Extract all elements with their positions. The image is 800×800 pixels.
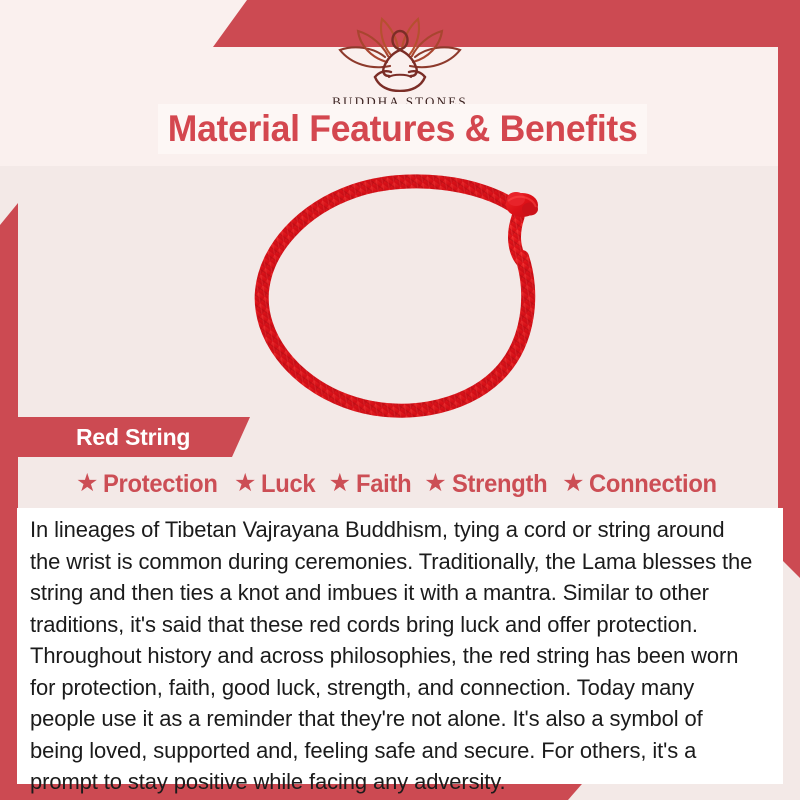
red-string-bracelet-illustration (230, 165, 590, 427)
benefit-item-faith: ★ Faith (326, 470, 418, 499)
lotus-meditation-figure-icon (327, 14, 473, 92)
description-panel: In lineages of Tibetan Vajrayana Buddhis… (17, 508, 783, 784)
benefit-label: Protection (103, 470, 218, 499)
star-icon: ★ (234, 471, 256, 496)
infographic-root: BUDDHA STONES Material Features & Benefi… (0, 0, 800, 800)
brand-logo: BUDDHA STONES (0, 14, 800, 110)
product-name-ribbon: Red String (18, 417, 250, 457)
product-name-label: Red String (76, 424, 190, 451)
star-icon: ★ (424, 471, 446, 496)
benefit-label: Luck (261, 470, 315, 499)
benefits-list: ★ Protection ★ Luck ★ Faith ★ Strength ★… (18, 466, 782, 502)
description-text: In lineages of Tibetan Vajrayana Buddhis… (30, 514, 760, 798)
product-image (230, 165, 590, 427)
star-icon: ★ (329, 471, 351, 496)
benefit-item-luck: ★ Luck (231, 470, 322, 499)
decorative-strip-left (0, 203, 18, 800)
benefit-item-strength: ★ Strength (421, 470, 555, 499)
page-title: Material Features & Benefits (168, 108, 638, 150)
star-icon: ★ (562, 471, 584, 496)
benefit-item-connection: ★ Connection (559, 470, 727, 499)
benefit-item-protection: ★ Protection (73, 470, 227, 499)
title-band: Material Features & Benefits (158, 104, 647, 154)
benefit-label: Faith (356, 470, 411, 499)
star-icon: ★ (76, 471, 98, 496)
benefit-label: Strength (452, 470, 547, 499)
benefit-label: Connection (589, 470, 717, 499)
